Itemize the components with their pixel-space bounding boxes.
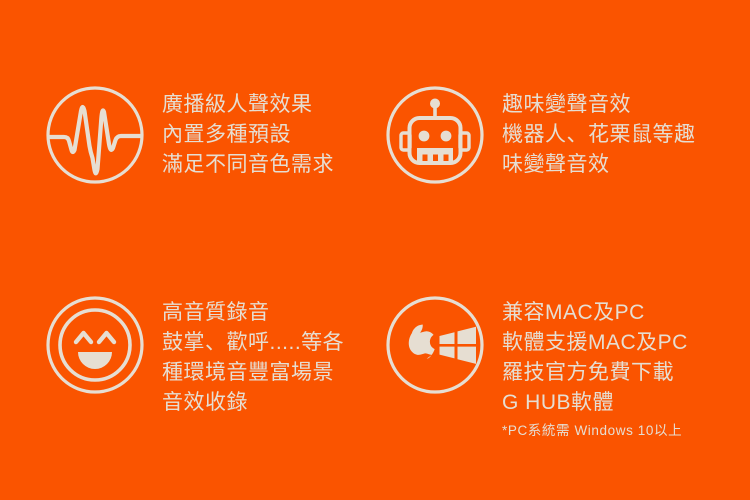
feature-line: 鼓掌、歡呼.....等各 [162, 328, 344, 358]
features-grid: 廣播級人聲效果 內置多種預設 滿足不同音色需求 [0, 0, 750, 500]
audio-waveform-icon [44, 84, 146, 186]
feature-line: 廣播級人聲效果 [162, 90, 334, 120]
feature-card-broadcast-voice: 廣播級人聲效果 內置多種預設 滿足不同音色需求 [0, 0, 375, 250]
feature-text-high-quality-recording: 高音質錄音 鼓掌、歡呼.....等各 種環境音豐富場景 音效收錄 [162, 292, 344, 418]
feature-card-high-quality-recording: 高音質錄音 鼓掌、歡呼.....等各 種環境音豐富場景 音效收錄 [0, 250, 375, 500]
apple-logo [409, 325, 435, 359]
feature-footnote: *PC系統需 Windows 10以上 [502, 418, 688, 442]
feature-line: 機器人、花栗鼠等趣 [502, 120, 696, 150]
feature-line: 羅技官方免費下載 [502, 358, 688, 388]
feature-text-broadcast-voice: 廣播級人聲效果 內置多種預設 滿足不同音色需求 [162, 84, 334, 180]
feature-text-voice-changer: 趣味變聲音效 機器人、花栗鼠等趣 味變聲音效 [502, 84, 696, 180]
windows-logo [440, 327, 477, 364]
feature-card-compatibility: 兼容MAC及PC 軟體支援MAC及PC 羅技官方免費下載 G HUB軟體 *PC… [375, 250, 750, 500]
feature-card-voice-changer: 趣味變聲音效 機器人、花栗鼠等趣 味變聲音效 [375, 0, 750, 250]
smiley-face-icon [44, 294, 146, 396]
apple-windows-icon [384, 294, 486, 396]
feature-line: 高音質錄音 [162, 298, 344, 328]
feature-line: 滿足不同音色需求 [162, 150, 334, 180]
feature-line: G HUB軟體 [502, 388, 688, 418]
robot-icon [384, 84, 486, 186]
feature-line: 種環境音豐富場景 [162, 358, 344, 388]
feature-line: 內置多種預設 [162, 120, 334, 150]
feature-line: 軟體支援MAC及PC [502, 328, 688, 358]
feature-line: 音效收錄 [162, 388, 344, 418]
feature-line: 兼容MAC及PC [502, 298, 688, 328]
feature-line: 趣味變聲音效 [502, 90, 696, 120]
feature-text-compatibility: 兼容MAC及PC 軟體支援MAC及PC 羅技官方免費下載 G HUB軟體 *PC… [502, 292, 688, 442]
feature-line: 味變聲音效 [502, 150, 696, 180]
